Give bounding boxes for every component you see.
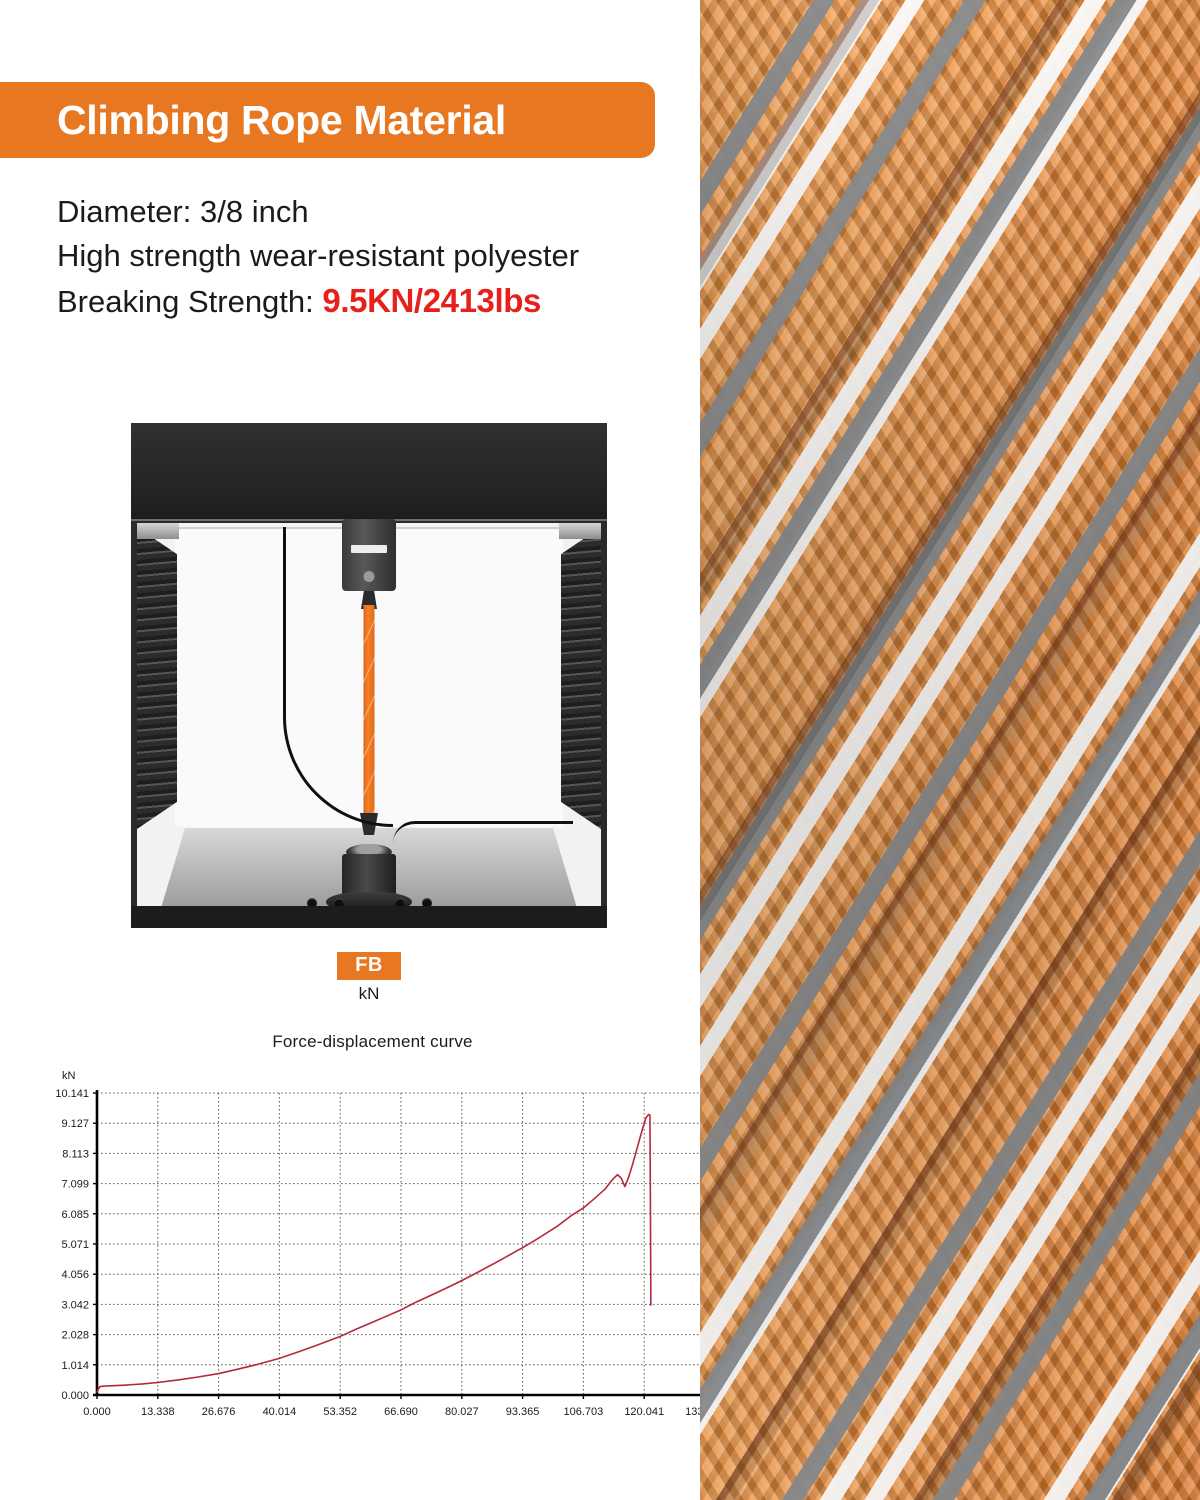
page-title: Climbing Rope Material (0, 100, 506, 141)
machine-left-wall (137, 527, 177, 829)
chart-y-tick-label: 8.113 (62, 1148, 89, 1160)
machine-left-rail (137, 523, 179, 539)
chart-y-tick-label: 6.085 (61, 1209, 89, 1221)
chart-y-tick-label: 5.071 (61, 1239, 89, 1251)
tensile-test-machine-photo (131, 423, 607, 928)
chart-y-tick-label: 3.042 (61, 1299, 89, 1311)
chart-y-tick-label: 4.056 (61, 1269, 89, 1281)
machine-floor-shadow (131, 906, 607, 928)
chart-series-line (97, 1114, 651, 1392)
rope-product-photo (700, 0, 1200, 1500)
title-banner: Climbing Rope Material (0, 82, 655, 158)
spec-diameter: Diameter: 3/8 inch (57, 190, 717, 234)
chart-x-tick-label: 106.703 (564, 1406, 604, 1418)
chart-x-tick-label: 93.365 (506, 1406, 540, 1418)
spec-breaking-strength: Breaking Strength: 9.5KN/2413lbs (57, 278, 717, 325)
spec-breaking-label: Breaking Strength: (57, 284, 322, 319)
rope-coil (700, 0, 1200, 1500)
chart-y-tick-label: 10.141 (55, 1088, 89, 1100)
chart-x-tick-label: 66.690 (384, 1406, 418, 1418)
machine-crosshead-beam (131, 423, 607, 521)
fb-badge: FB (337, 952, 401, 980)
machine-right-wall (561, 527, 601, 829)
spec-breaking-value: 9.5KN/2413lbs (322, 282, 541, 319)
rope-coil-shading (700, 0, 1200, 1500)
chart-x-tick-label: 80.027 (445, 1406, 479, 1418)
chart-x-tick-label: 120.041 (624, 1406, 664, 1418)
force-displacement-chart: Force-displacement curve kN mm 0.0001.01… (0, 1032, 760, 1452)
chart-plot-area: 0.0001.0142.0283.0424.0565.0716.0857.099… (0, 1032, 760, 1452)
product-infographic-page: Climbing Rope Material Diameter: 3/8 inc… (0, 0, 1200, 1500)
spec-material: High strength wear-resistant polyester (57, 234, 717, 278)
chart-x-tick-label: 13.338 (141, 1406, 175, 1418)
fb-unit-label: kN (131, 984, 607, 1004)
chart-x-tick-label: 53.352 (323, 1406, 357, 1418)
spec-list: Diameter: 3/8 inch High strength wear-re… (57, 190, 717, 325)
chart-y-tick-label: 7.099 (61, 1179, 89, 1191)
chart-y-tick-label: 1.014 (61, 1360, 89, 1372)
chart-x-tick-label: 0.000 (83, 1406, 111, 1418)
chart-y-tick-label: 9.127 (61, 1118, 89, 1130)
chart-x-tick-label: 40.014 (263, 1406, 297, 1418)
machine-sensor-cable-lower (393, 821, 573, 843)
fb-caption: FB kN (131, 952, 607, 1004)
machine-right-rail (559, 523, 601, 539)
chart-x-tick-label: 26.676 (202, 1406, 236, 1418)
chart-y-tick-label: 2.028 (61, 1330, 89, 1342)
chart-y-tick-label: 0.000 (61, 1390, 89, 1402)
